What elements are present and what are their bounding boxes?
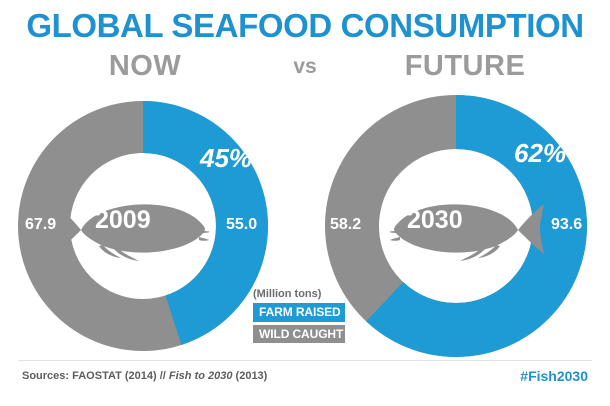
value-wild-caught-future: 58.2: [330, 217, 361, 233]
center-year-now: 2009: [95, 208, 151, 233]
subtitle-row: NOW vs FUTURE: [0, 52, 610, 84]
subtitle-now: NOW: [0, 52, 290, 81]
legend-item-wild-caught: WILD CAUGHT: [253, 325, 345, 344]
value-farm-raised-now: 55.0: [226, 217, 257, 233]
value-wild-caught-now: 67.9: [25, 217, 56, 233]
legend-units-label: (Million tons): [253, 288, 345, 300]
sources-suffix: (2013): [232, 370, 267, 382]
subtitle-future: FUTURE: [320, 52, 610, 81]
sources-title-italic: Fish to 2030: [169, 370, 233, 382]
sources-text: Sources: FAOSTAT (2014) // Fish to 2030 …: [22, 371, 267, 382]
value-farm-raised-future: 93.6: [551, 217, 582, 233]
percent-label-future: 62%: [514, 140, 566, 166]
hashtag-label: #Fish2030: [520, 369, 588, 383]
sources-prefix: Sources: FAOSTAT (2014) //: [22, 370, 169, 382]
infographic-canvas: GLOBAL SEAFOOD CONSUMPTION NOW vs FUTURE…: [0, 0, 610, 406]
chart-legend: (Million tons) FARM RAISED WILD CAUGHT: [253, 288, 345, 346]
percent-label-now: 45%: [200, 145, 252, 171]
legend-item-farm-raised: FARM RAISED: [253, 303, 345, 322]
page-title: GLOBAL SEAFOOD CONSUMPTION: [0, 9, 610, 42]
center-year-future: 2030: [407, 208, 463, 233]
footer-divider: [18, 360, 592, 361]
